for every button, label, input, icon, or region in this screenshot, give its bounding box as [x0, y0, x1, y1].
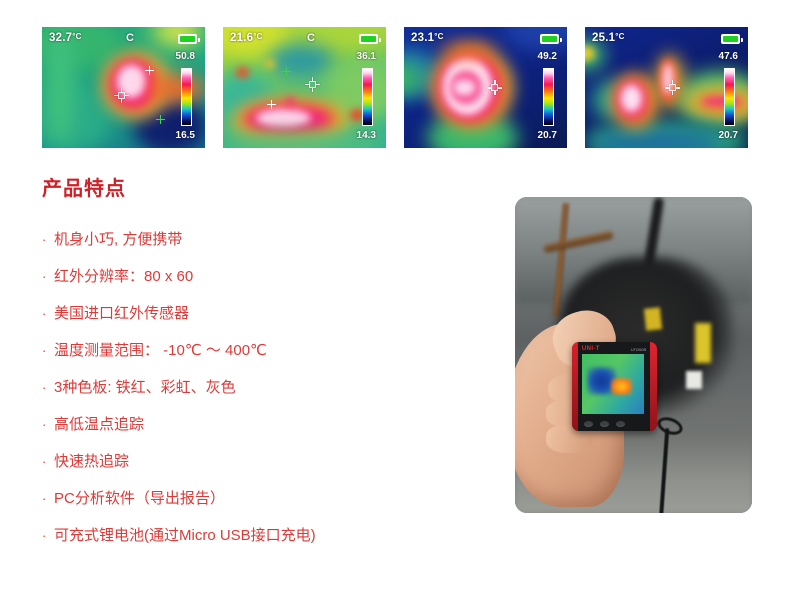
thermal-image-4: 25.1°C 47.6 20.7	[585, 27, 748, 148]
yellow-label-2	[695, 323, 711, 363]
bullet-icon: ·	[42, 295, 54, 332]
product-features-section: 产品特点 ·机身小巧, 方便携带 ·红外分辨率：80 x 60 ·美国进口红外传…	[42, 172, 492, 554]
hot-spot-marker-icon	[267, 100, 276, 109]
feature-text: PC分析软件（导出报告）	[54, 490, 225, 507]
feature-text: 机身小巧, 方便携带	[54, 231, 182, 248]
bullet-icon: ·	[42, 221, 54, 258]
device-screen	[582, 354, 644, 413]
bullet-icon: ·	[42, 480, 54, 517]
battery-full-icon	[540, 34, 559, 44]
scale-min-value: 20.7	[704, 130, 738, 141]
color-palette-bar	[543, 68, 554, 126]
bullet-icon: ·	[42, 443, 54, 480]
device-button-right	[616, 421, 625, 427]
device-brand-logo: UNI-T	[582, 346, 600, 352]
feature-list-item: ·温度测量范围： -10℃ ～ 400℃	[42, 332, 492, 369]
thermal-image-3: 23.1°C 49.2 20.7	[404, 27, 567, 148]
bullet-icon: ·	[42, 332, 54, 369]
feature-list-item: ·美国进口红外传感器	[42, 295, 492, 332]
thermal-camera-device: UNI-T UTi260B	[572, 342, 657, 430]
device-button-center	[600, 421, 609, 427]
feature-text: 可充式锂电池(通过Micro USB接口充电)	[54, 527, 316, 544]
battery-full-icon	[359, 34, 378, 44]
feature-text: 美国进口红外传感器	[54, 305, 189, 322]
temperature-scale-4: 47.6 20.7	[704, 53, 738, 139]
temperature-readout: 23.1°C	[411, 32, 444, 44]
mode-label: C	[307, 32, 315, 44]
temperature-readout: 21.6°C	[230, 32, 263, 44]
color-palette-bar	[724, 68, 735, 126]
cold-spot-marker-icon	[282, 67, 291, 76]
temperature-scale-1: 50.8 16.5	[161, 53, 195, 139]
scale-max-value: 50.8	[161, 51, 195, 62]
scale-min-value: 20.7	[523, 130, 557, 141]
feature-list-item: ·高低温点追踪	[42, 406, 492, 443]
center-crosshair-icon	[665, 80, 680, 95]
feature-text: 温度测量范围： -10℃ ～ 400℃	[54, 342, 267, 359]
yellow-label-1	[644, 307, 662, 331]
feature-text: 红外分辨率：80 x 60	[54, 268, 193, 285]
scale-min-value: 14.3	[342, 130, 376, 141]
bullet-icon: ·	[42, 517, 54, 554]
hot-spot-marker-icon	[145, 66, 154, 75]
scale-max-value: 36.1	[342, 51, 376, 62]
bullet-icon: ·	[42, 406, 54, 443]
device-model-label: UTi260B	[631, 347, 646, 352]
center-crosshair-icon	[305, 77, 320, 92]
product-feature-page: 32.7°C C 50.8 16.5	[0, 0, 790, 592]
feature-list-item: ·PC分析软件（导出报告）	[42, 480, 492, 517]
feature-text: 快速热追踪	[54, 453, 129, 470]
scale-min-value: 16.5	[161, 130, 195, 141]
product-photo: UNI-T UTi260B	[515, 197, 752, 513]
color-palette-bar	[362, 68, 373, 126]
white-label	[686, 371, 702, 389]
center-crosshair-icon	[487, 80, 502, 95]
scale-max-value: 47.6	[704, 51, 738, 62]
section-title: 产品特点	[42, 172, 492, 201]
device-right-bumper	[650, 342, 657, 430]
bullet-icon: ·	[42, 369, 54, 406]
device-left-bumper	[572, 342, 578, 430]
temperature-scale-3: 49.2 20.7	[523, 53, 557, 139]
temperature-scale-2: 36.1 14.3	[342, 53, 376, 139]
mode-label: C	[126, 32, 134, 44]
feature-text: 高低温点追踪	[54, 416, 144, 433]
temperature-readout: 25.1°C	[592, 32, 625, 44]
color-palette-bar	[181, 68, 192, 126]
screen-hot-region	[611, 378, 632, 395]
thermal-image-2: 21.6°C C 36.1 14.3	[223, 27, 386, 148]
center-crosshair-icon	[114, 88, 129, 103]
battery-full-icon	[721, 34, 740, 44]
feature-list-item: ·机身小巧, 方便携带	[42, 221, 492, 258]
thermal-image-gallery: 32.7°C C 50.8 16.5	[42, 27, 752, 148]
feature-list-item: ·3种色板: 铁红、彩虹、灰色	[42, 369, 492, 406]
bullet-icon: ·	[42, 258, 54, 295]
feature-list-item: ·红外分辨率：80 x 60	[42, 258, 492, 295]
battery-full-icon	[178, 34, 197, 44]
scale-max-value: 49.2	[523, 51, 557, 62]
device-button-left	[584, 421, 593, 427]
feature-list-item: ·可充式锂电池(通过Micro USB接口充电)	[42, 517, 492, 554]
thermal-image-1: 32.7°C C 50.8 16.5	[42, 27, 205, 148]
device-button-row	[584, 421, 625, 427]
feature-text: 3种色板: 铁红、彩虹、灰色	[54, 379, 236, 396]
temperature-readout: 32.7°C	[49, 32, 82, 44]
feature-list-item: ·快速热追踪	[42, 443, 492, 480]
